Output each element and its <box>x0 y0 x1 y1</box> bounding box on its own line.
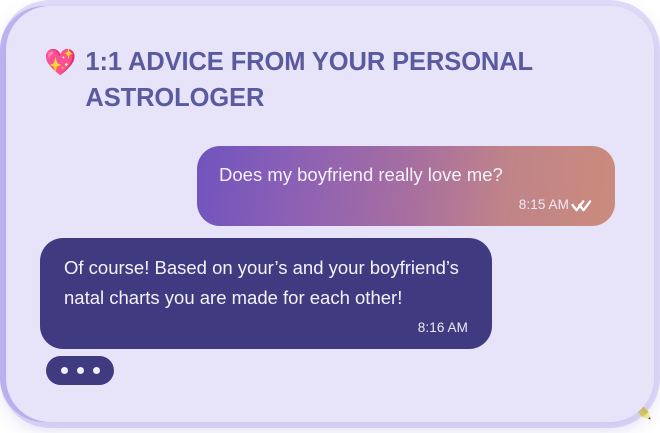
message-timestamp: 8:16 AM <box>418 317 468 339</box>
message-meta: 8:16 AM <box>64 317 468 339</box>
screenshot-root: 💖 1:1 ADVICE FROM YOUR PERSONAL ASTROLOG… <box>0 0 660 428</box>
message-text: Of course! Based on your’s and your boyf… <box>64 253 468 313</box>
message-text: Does my boyfriend really love me? <box>219 160 593 190</box>
message-bubble-outgoing[interactable]: Does my boyfriend really love me? 8:15 A… <box>197 146 615 226</box>
typing-dot <box>77 367 84 374</box>
double-check-icon <box>571 197 593 215</box>
typing-indicator <box>46 356 114 385</box>
page-title-label: 1:1 ADVICE FROM YOUR PERSONAL ASTROLOGER <box>85 44 585 116</box>
message-meta: 8:15 AM <box>219 194 593 216</box>
typing-dot <box>93 367 100 374</box>
typing-dot <box>61 367 68 374</box>
sparkling-heart-icon: 💖 <box>44 45 76 79</box>
message-timestamp: 8:15 AM <box>519 194 569 216</box>
chat-card: 💖 1:1 ADVICE FROM YOUR PERSONAL ASTROLOG… <box>6 6 654 422</box>
message-bubble-incoming[interactable]: Of course! Based on your’s and your boyf… <box>40 238 492 349</box>
page-title: 💖 1:1 ADVICE FROM YOUR PERSONAL ASTROLOG… <box>44 44 604 116</box>
